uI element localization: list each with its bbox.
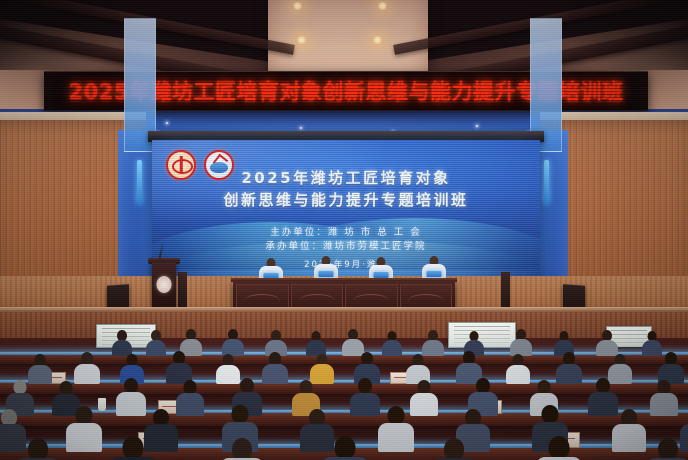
panelist-nameplate: [427, 271, 442, 277]
wall-light-strip-right: [544, 160, 549, 204]
audience-member: [322, 436, 368, 460]
ceiling-downlight-icon: [296, 36, 307, 44]
head-table-panel: [236, 284, 289, 309]
head-table-panel: [400, 284, 453, 309]
audience-member: [110, 436, 156, 460]
ceiling-downlight-icon: [372, 36, 383, 44]
audience-member: [16, 438, 60, 460]
seating-row: [0, 438, 688, 460]
lectern-emblem-icon: [157, 276, 172, 293]
head-table-panel: [291, 284, 344, 309]
screen-date-line: 2025年9月·潍坊: [152, 258, 540, 270]
lectern: [152, 262, 176, 312]
ceiling-downlight-icon: [377, 2, 388, 10]
ceiling-shadow-left: [0, 0, 120, 70]
panelist: [313, 256, 339, 278]
panelist: [421, 256, 447, 278]
head-table-panel: [345, 284, 398, 309]
auditorium-seating: [0, 312, 688, 460]
screen-organizer-line: 主办单位：潍 坊 市 总 工 会: [152, 224, 540, 238]
audience-member: [536, 436, 582, 460]
screen-co-organizer-line: 承办单位：潍坊市劳模工匠学院: [152, 238, 540, 252]
audience-member: [220, 438, 264, 460]
screen-title-line2: 创新思维与能力提升专题培训班: [152, 189, 540, 210]
panelist: [258, 258, 284, 280]
stage-led-screen: 2025年潍坊工匠培育对象 创新思维与能力提升专题培训班 主办单位：潍 坊 市 …: [152, 140, 540, 278]
screen-title-line1: 2025年潍坊工匠培育对象: [152, 167, 540, 188]
audience-member: [432, 438, 476, 460]
panelist-nameplate: [319, 271, 334, 277]
ceiling-downlight-icon: [292, 2, 303, 10]
wall-light-strip-left: [137, 160, 142, 204]
audience-member: [646, 438, 688, 460]
ceiling-shadow-right: [568, 0, 688, 70]
panelist: [368, 257, 394, 279]
conference-hall-photo: 2025年潍坊工匠培育对象创新思维与能力提升专题培训班 2025年潍坊工匠培育对…: [0, 0, 688, 460]
screen-surface: 2025年潍坊工匠培育对象 创新思维与能力提升专题培训班 主办单位：潍 坊 市 …: [152, 140, 540, 278]
